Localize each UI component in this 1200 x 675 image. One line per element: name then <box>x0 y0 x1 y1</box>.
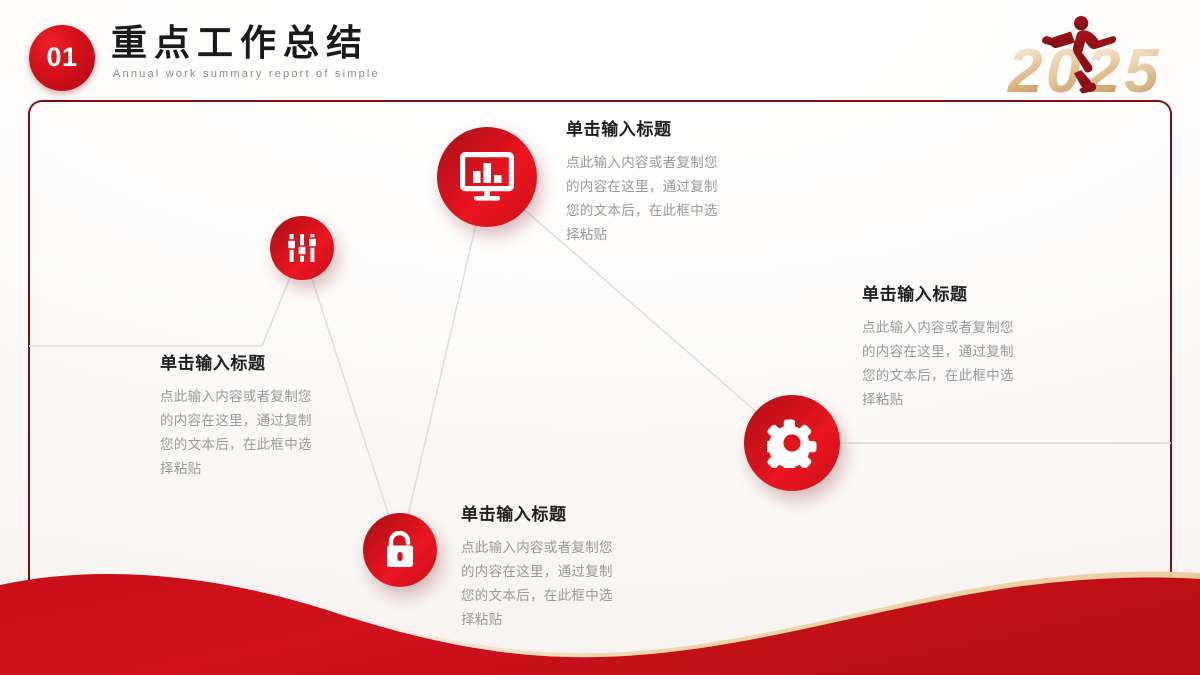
block-body: 点此输入内容或者复制您的内容在这里，通过复制您的文本后，在此框中选择粘贴 <box>160 385 320 481</box>
text-block-top: 单击输入标题 点此输入内容或者复制您的内容在这里，通过复制您的文本后，在此框中选… <box>566 120 726 247</box>
svg-text:5: 5 <box>1124 37 1160 98</box>
text-block-left: 单击输入标题 点此输入内容或者复制您的内容在这里，通过复制您的文本后，在此框中选… <box>160 354 320 481</box>
section-number-badge: 01 <box>29 25 95 91</box>
block-title: 单击输入标题 <box>461 505 621 525</box>
node-monitor[interactable] <box>437 127 537 227</box>
block-body: 点此输入内容或者复制您的内容在这里，通过复制您的文本后，在此框中选择粘贴 <box>566 151 726 247</box>
slide-canvas: 01 重点工作总结 Annual work summary report of … <box>0 0 1200 675</box>
gear-icon <box>767 418 817 468</box>
text-block-right: 单击输入标题 点此输入内容或者复制您的内容在这里，通过复制您的文本后，在此框中选… <box>862 285 1022 412</box>
node-sliders[interactable] <box>270 216 334 280</box>
node-gear[interactable] <box>744 395 840 491</box>
block-title: 单击输入标题 <box>160 354 320 374</box>
block-title: 单击输入标题 <box>566 120 726 140</box>
bottom-wave-decoration <box>0 555 1200 675</box>
sliders-icon <box>287 233 317 263</box>
year-2025-logo: 2 0 2 5 <box>1002 8 1182 98</box>
page-subtitle: Annual work summary report of simple <box>113 68 380 80</box>
slide-header: 01 重点工作总结 Annual work summary report of … <box>0 0 1200 100</box>
section-number-label: 01 <box>46 44 77 71</box>
block-body: 点此输入内容或者复制您的内容在这里，通过复制您的文本后，在此框中选择粘贴 <box>862 316 1022 412</box>
svg-text:2: 2 <box>1007 37 1042 98</box>
page-title: 重点工作总结 <box>111 22 369 63</box>
block-title: 单击输入标题 <box>862 285 1022 305</box>
monitor-chart-icon <box>460 152 514 202</box>
